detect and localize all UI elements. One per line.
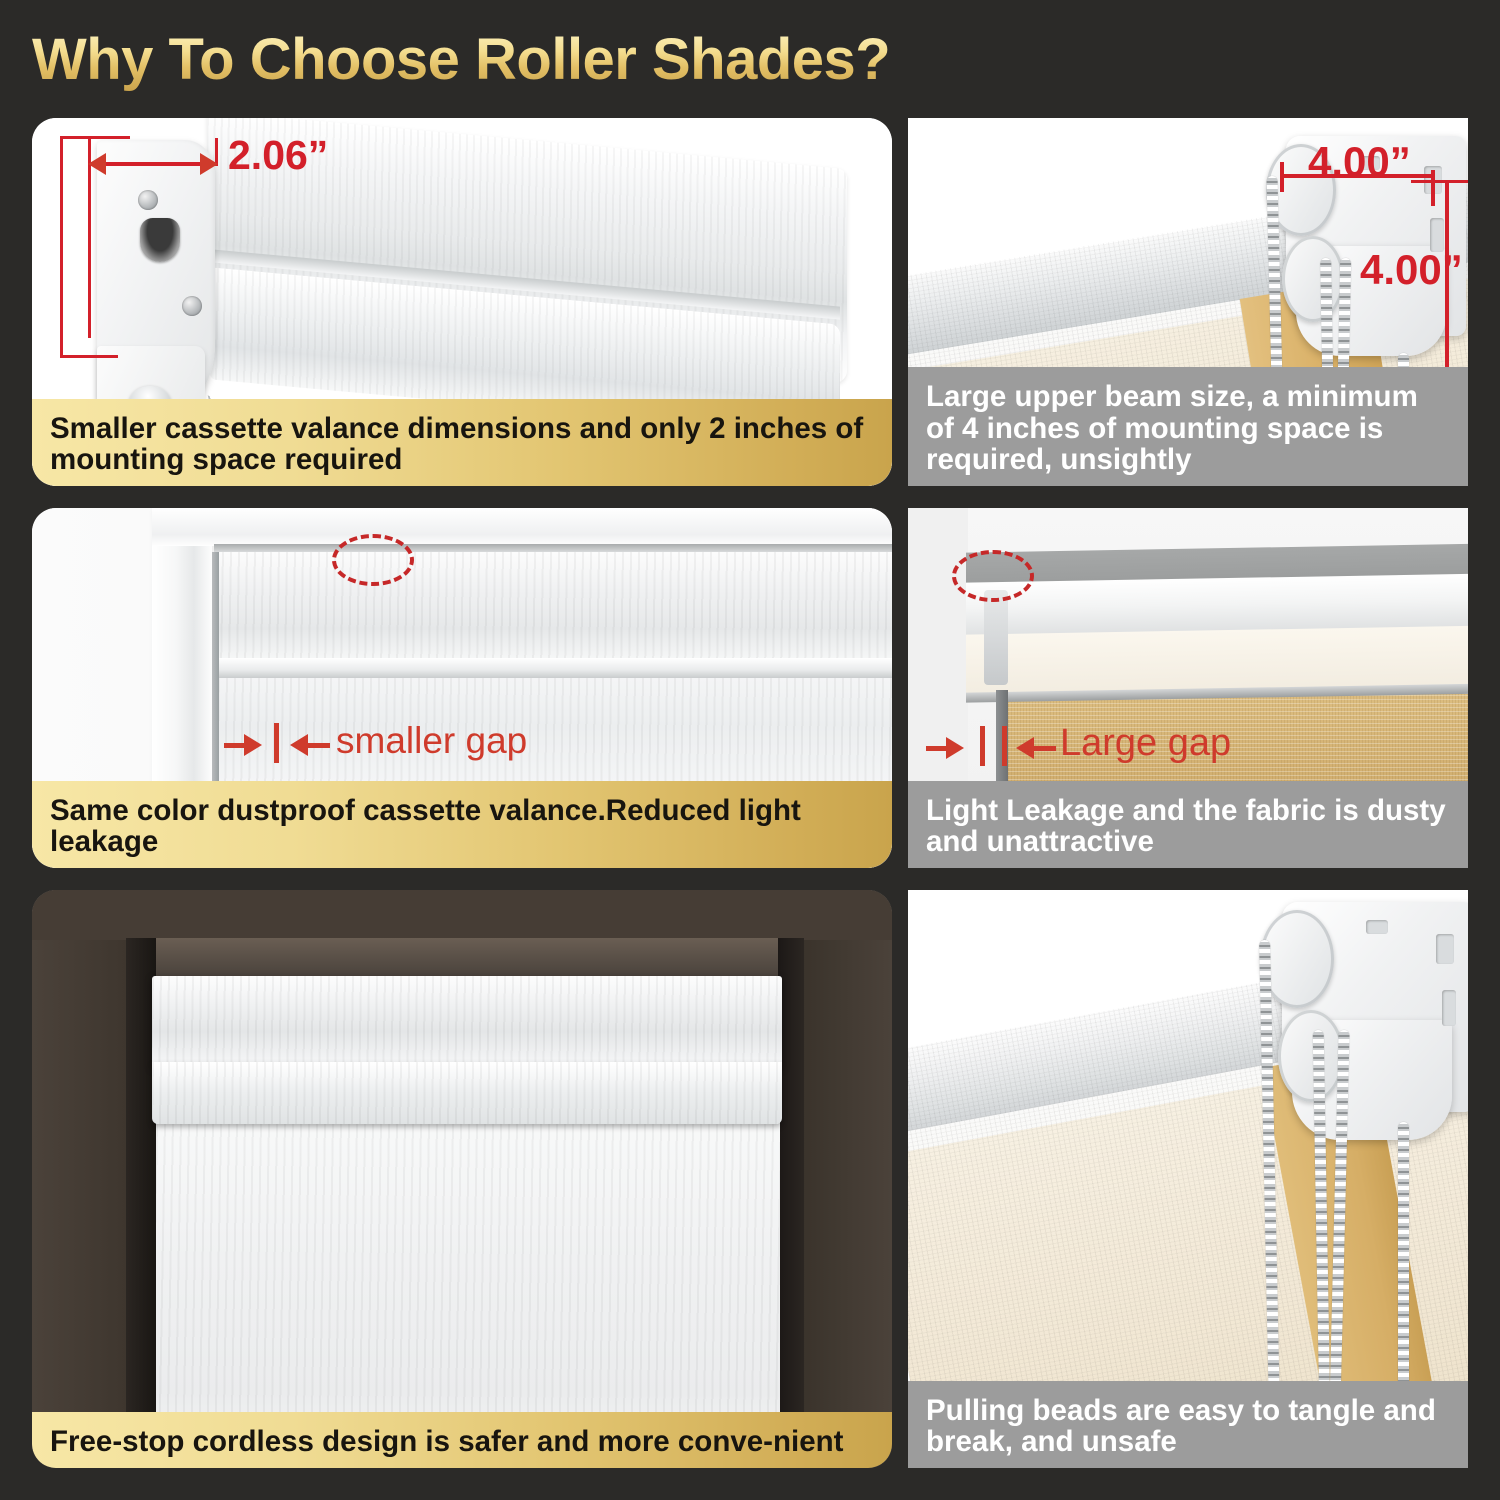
- smaller-gap-label: smaller gap: [336, 720, 527, 762]
- window-frame-head: [152, 508, 892, 546]
- bracket-notch: [1436, 934, 1454, 964]
- gap-arrow-left-icon: [290, 734, 308, 756]
- panel-1-caption: Smaller cassette valance dimensions and …: [32, 399, 892, 486]
- wall-top: [32, 890, 892, 940]
- fabric-texture: [214, 552, 892, 662]
- shade-head-rail: [214, 544, 892, 552]
- dim-tick-top: [1411, 180, 1468, 183]
- gap-tick: [980, 726, 985, 766]
- dim-vert-line: [60, 136, 63, 358]
- gap-arrow-stem-right: [1034, 746, 1056, 751]
- highlight-circle-icon: [332, 534, 414, 586]
- dimension-width-label: 2.06”: [228, 132, 328, 179]
- gap-arrow-right-icon: [244, 734, 262, 756]
- panel-smaller-cassette: 2.06” 5.49” Smaller cassette valance dim…: [32, 118, 892, 486]
- cassette-valance: [152, 976, 782, 1066]
- screw-icon: [138, 190, 158, 210]
- valance-texture-lower: [152, 1062, 782, 1124]
- gap-arrow-left-icon: [1016, 737, 1034, 759]
- panel-large-upper-beam: 4.00” 4.00” Large upper beam size, a min…: [908, 118, 1468, 486]
- panel-pulling-beads: Pulling beads are easy to tangle and bre…: [908, 890, 1468, 1468]
- gap-arrow-stem-left: [224, 743, 246, 748]
- panel-3-caption: Same color dustproof cassette valance.Re…: [32, 781, 892, 868]
- roller-shade-fabric: [156, 1122, 780, 1462]
- roller-end-disc-lower: [1278, 1010, 1344, 1102]
- wall-left: [32, 890, 128, 1468]
- highlight-circle-icon: [952, 550, 1034, 602]
- panel-2-caption: Large upper beam size, a minimum of 4 in…: [908, 367, 1468, 486]
- panel-5-artwork: [32, 890, 892, 1468]
- valance-slot: [140, 218, 180, 262]
- large-gap-label: Large gap: [1060, 722, 1231, 765]
- panel-6-caption: Pulling beads are easy to tangle and bre…: [908, 1381, 1468, 1468]
- shade-mid-rail: [212, 658, 892, 678]
- fabric-texture: [156, 1122, 780, 1462]
- dim-arrow-right: [200, 153, 218, 175]
- panel-4-caption: Light Leakage and the fabric is dusty an…: [908, 781, 1468, 868]
- dim-tick-bottom: [60, 355, 118, 358]
- bracket-notch: [1442, 990, 1456, 1026]
- gap-arrow-stem-right: [308, 743, 330, 748]
- dim-arrow-left: [88, 153, 106, 175]
- window-head: [126, 938, 804, 980]
- panel-cordless-design: Free-stop cordless design is safer and m…: [32, 890, 892, 1468]
- screw-icon: [182, 296, 202, 316]
- valance-texture: [152, 976, 782, 1066]
- dim-tick-top: [60, 136, 130, 139]
- gap-arrow-stem-left: [926, 746, 948, 751]
- page-title: Why To Choose Roller Shades?: [32, 26, 890, 93]
- dimension-width-label: 4.00”: [1308, 138, 1411, 186]
- cassette-valance-lower: [152, 1062, 782, 1124]
- shade-side-edge: [212, 552, 219, 798]
- dim-horizontal-line: [88, 162, 218, 166]
- comparison-infographic: Why To Choose Roller Shades? 2.06”: [0, 0, 1500, 1500]
- panel-light-leakage: Large gap Light Leakage and the fabric i…: [908, 508, 1468, 868]
- gap-arrow-right-icon: [946, 737, 964, 759]
- dimension-height-label: 4.00”: [1360, 246, 1463, 294]
- roller-end-disc-lower: [1282, 236, 1344, 322]
- gap-tick: [1002, 726, 1007, 766]
- dim-tick-right: [1431, 170, 1435, 206]
- panel-dustproof-cassette: smaller gap Same color dustproof cassett…: [32, 508, 892, 868]
- shade-fabric-upper: [214, 552, 892, 662]
- panel-5-caption: Free-stop cordless design is safer and m…: [32, 1412, 892, 1468]
- bead-chain[interactable]: [1398, 1122, 1409, 1410]
- wall-right: [802, 890, 892, 1468]
- bracket-notch: [1366, 920, 1388, 934]
- bracket-hardware: [984, 590, 1008, 685]
- gap-tick: [274, 723, 279, 763]
